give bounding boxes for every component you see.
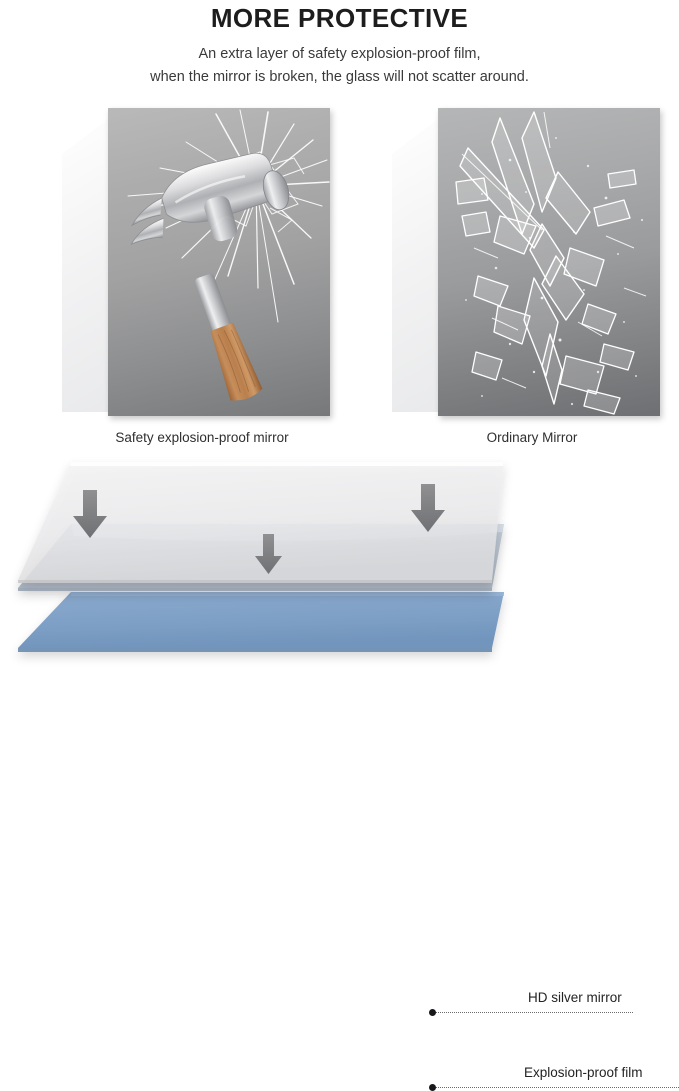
header: MORE PROTECTIVE An extra layer of safety… (0, 0, 679, 89)
callout-dot-film (429, 1084, 436, 1091)
label-explosion-proof-film: Explosion-proof film (524, 1065, 643, 1080)
caption-safety-mirror: Safety explosion-proof mirror (62, 430, 342, 445)
caption-ordinary-mirror: Ordinary Mirror (392, 430, 672, 445)
comparison-panel-ordinary: Ordinary Mirror (392, 108, 672, 448)
subtitle-line-1: An extra layer of safety explosion-proof… (0, 43, 679, 66)
leader-line-film (436, 1087, 679, 1089)
comparison-panel-safety: Safety explosion-proof mirror (62, 108, 342, 448)
shattered-glass-illustration (438, 108, 660, 416)
leader-line-mirror (436, 1012, 633, 1014)
label-hd-silver-mirror: HD silver mirror (528, 990, 622, 1005)
crack-and-hammer-illustration (108, 108, 330, 416)
layer-diagram: HD silver mirror Explosion-proof film (0, 452, 679, 699)
shattered-mirror-image (438, 108, 660, 416)
cracked-mirror-image (108, 108, 330, 416)
subtitle-line-2: when the mirror is broken, the glass wil… (0, 66, 679, 89)
explosion-proof-film-layer (18, 592, 504, 652)
callout-dot-mirror (429, 1009, 436, 1016)
page-title: MORE PROTECTIVE (0, 3, 679, 33)
comparison-panels: Safety explosion-proof mirror (0, 108, 679, 448)
page-subtitle: An extra layer of safety explosion-proof… (0, 43, 679, 89)
